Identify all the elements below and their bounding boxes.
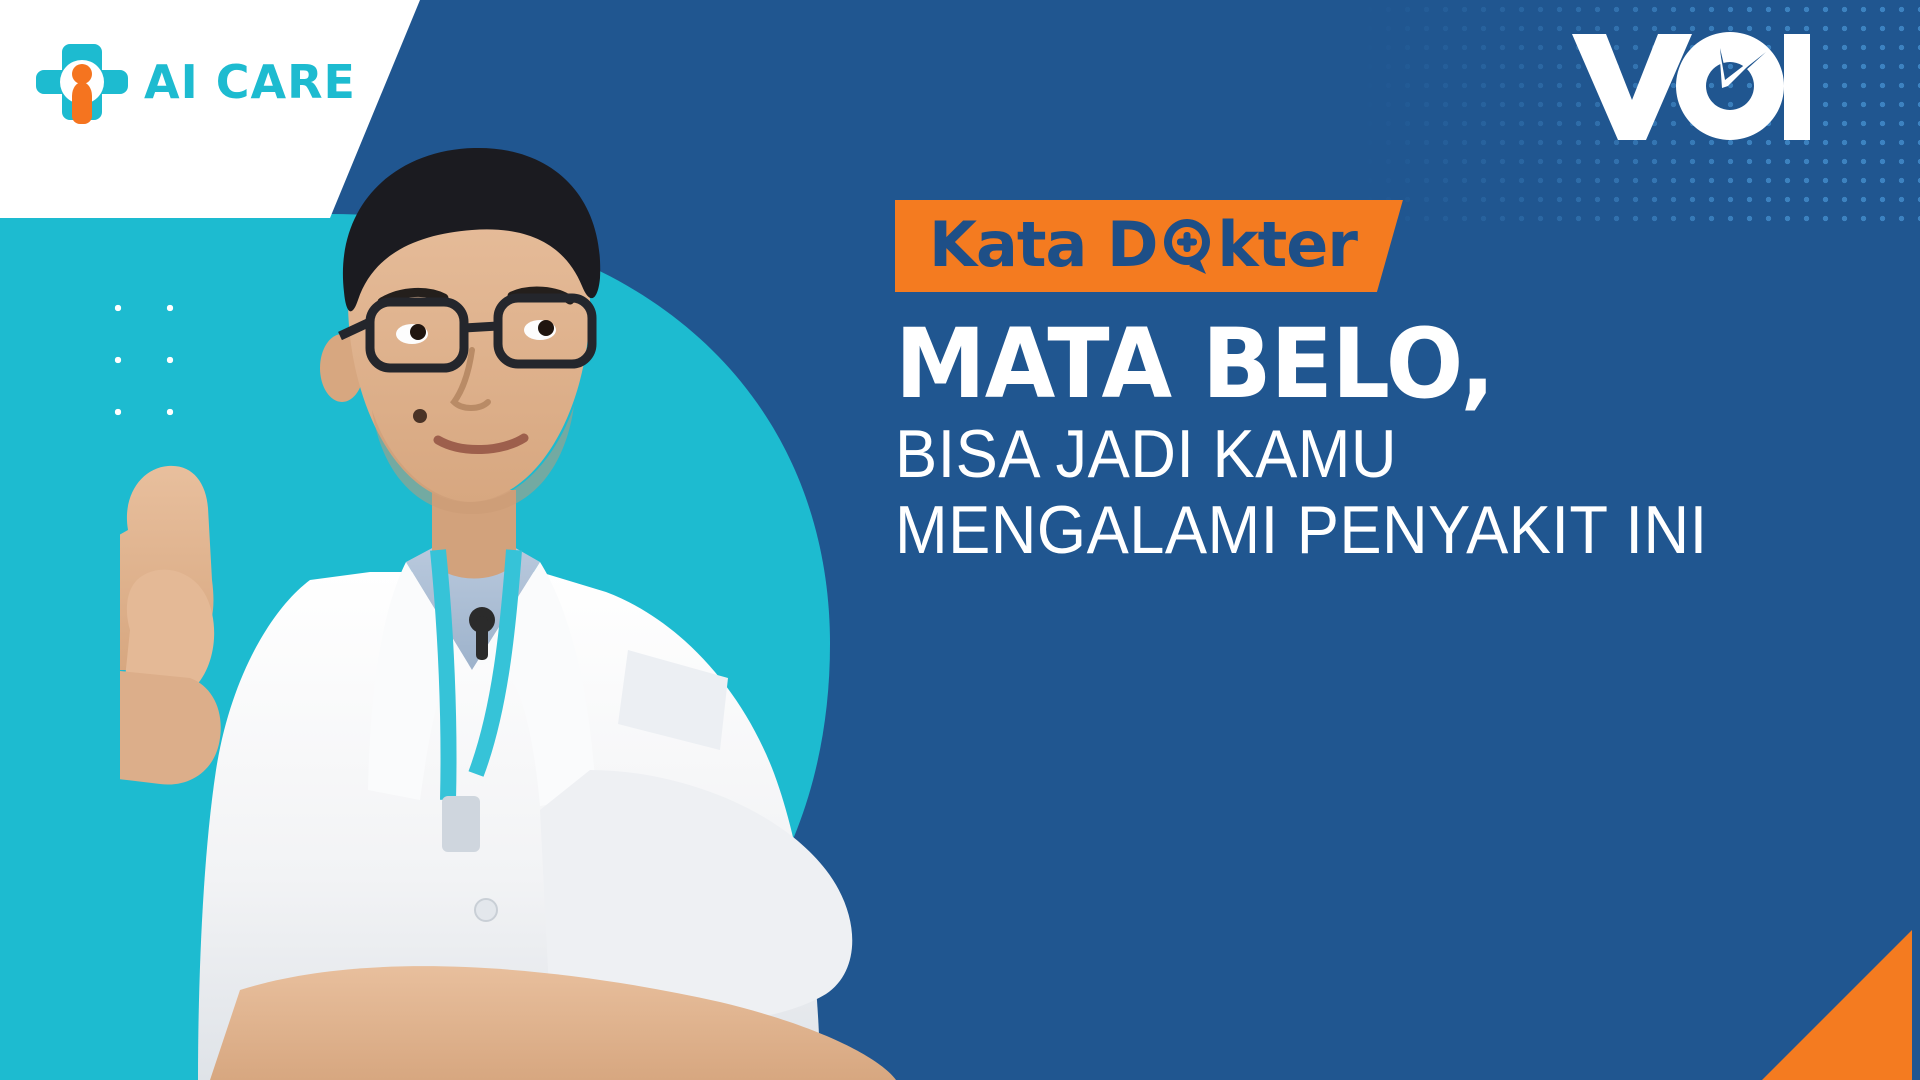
badge-text-before: Kata D: [929, 214, 1157, 276]
headline-line-1: MATA BELO,: [895, 318, 1845, 410]
doctor-head: [320, 148, 600, 514]
ai-care-wordmark: AI CARE: [144, 59, 356, 105]
badge-text-after: kter: [1217, 214, 1357, 276]
speech-bubble-cross-icon: [1157, 214, 1217, 276]
kata-dokter-badge: Kata D kter: [895, 200, 1403, 292]
pointing-hand: [120, 466, 221, 785]
ai-care-logo[interactable]: AI CARE: [36, 36, 356, 128]
white-coat: [198, 490, 896, 1080]
voi-logo[interactable]: [1570, 28, 1810, 140]
thumbnail-canvas: AI CARE Kata D: [0, 0, 1920, 1080]
medical-cross-person-icon: [36, 36, 128, 128]
doctor-portrait: [120, 110, 940, 1080]
headline-line-3: MENGALAMI PENYAKIT INI: [895, 492, 1825, 568]
voi-wordmark-icon: [1570, 28, 1810, 140]
headline-line-2: BISA JADI KAMU: [895, 416, 1825, 492]
headline-block: Kata D kter MATA BELO, BISA JADI KAMU ME…: [895, 200, 1895, 568]
